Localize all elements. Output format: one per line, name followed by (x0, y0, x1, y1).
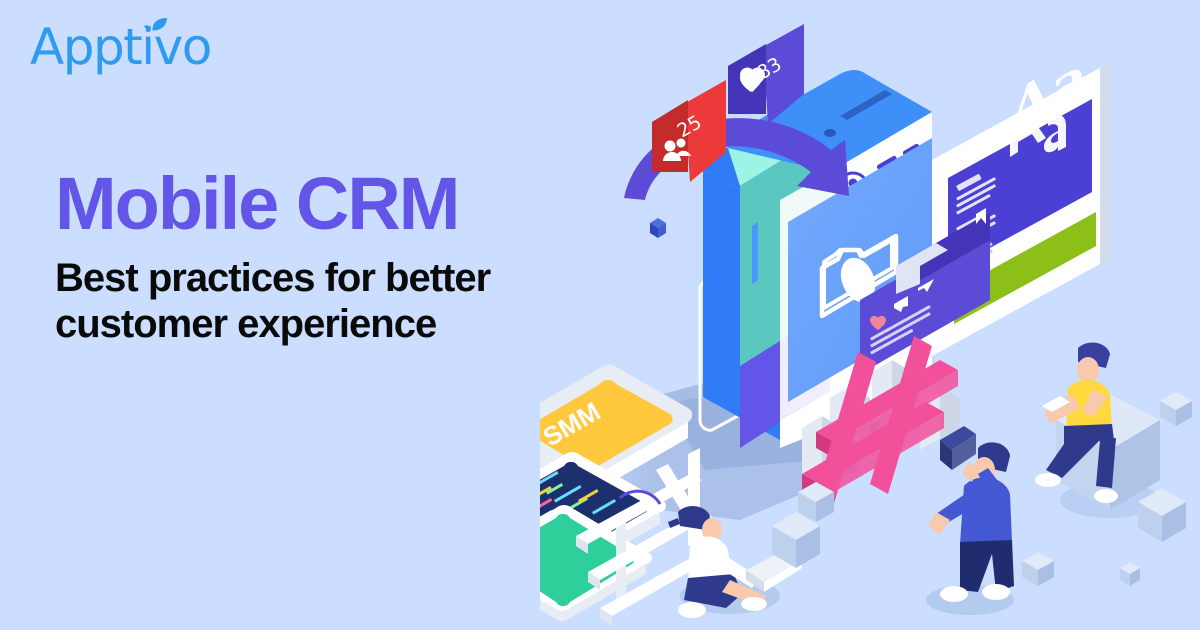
hero-illustration: 25 83 Aa (540, 0, 1200, 630)
poster-canvas: Apptivo Mobile CRM Best practices for be… (0, 0, 1200, 630)
apptivo-logo[interactable]: Apptivo (30, 22, 211, 72)
logo-mark: Apptivo (30, 22, 211, 72)
person-standing-with-tablet (926, 426, 1014, 615)
person-sitting-on-cube (1035, 343, 1160, 518)
leaf-icon (143, 17, 169, 39)
logo-wordmark: Apptivo (30, 18, 211, 76)
